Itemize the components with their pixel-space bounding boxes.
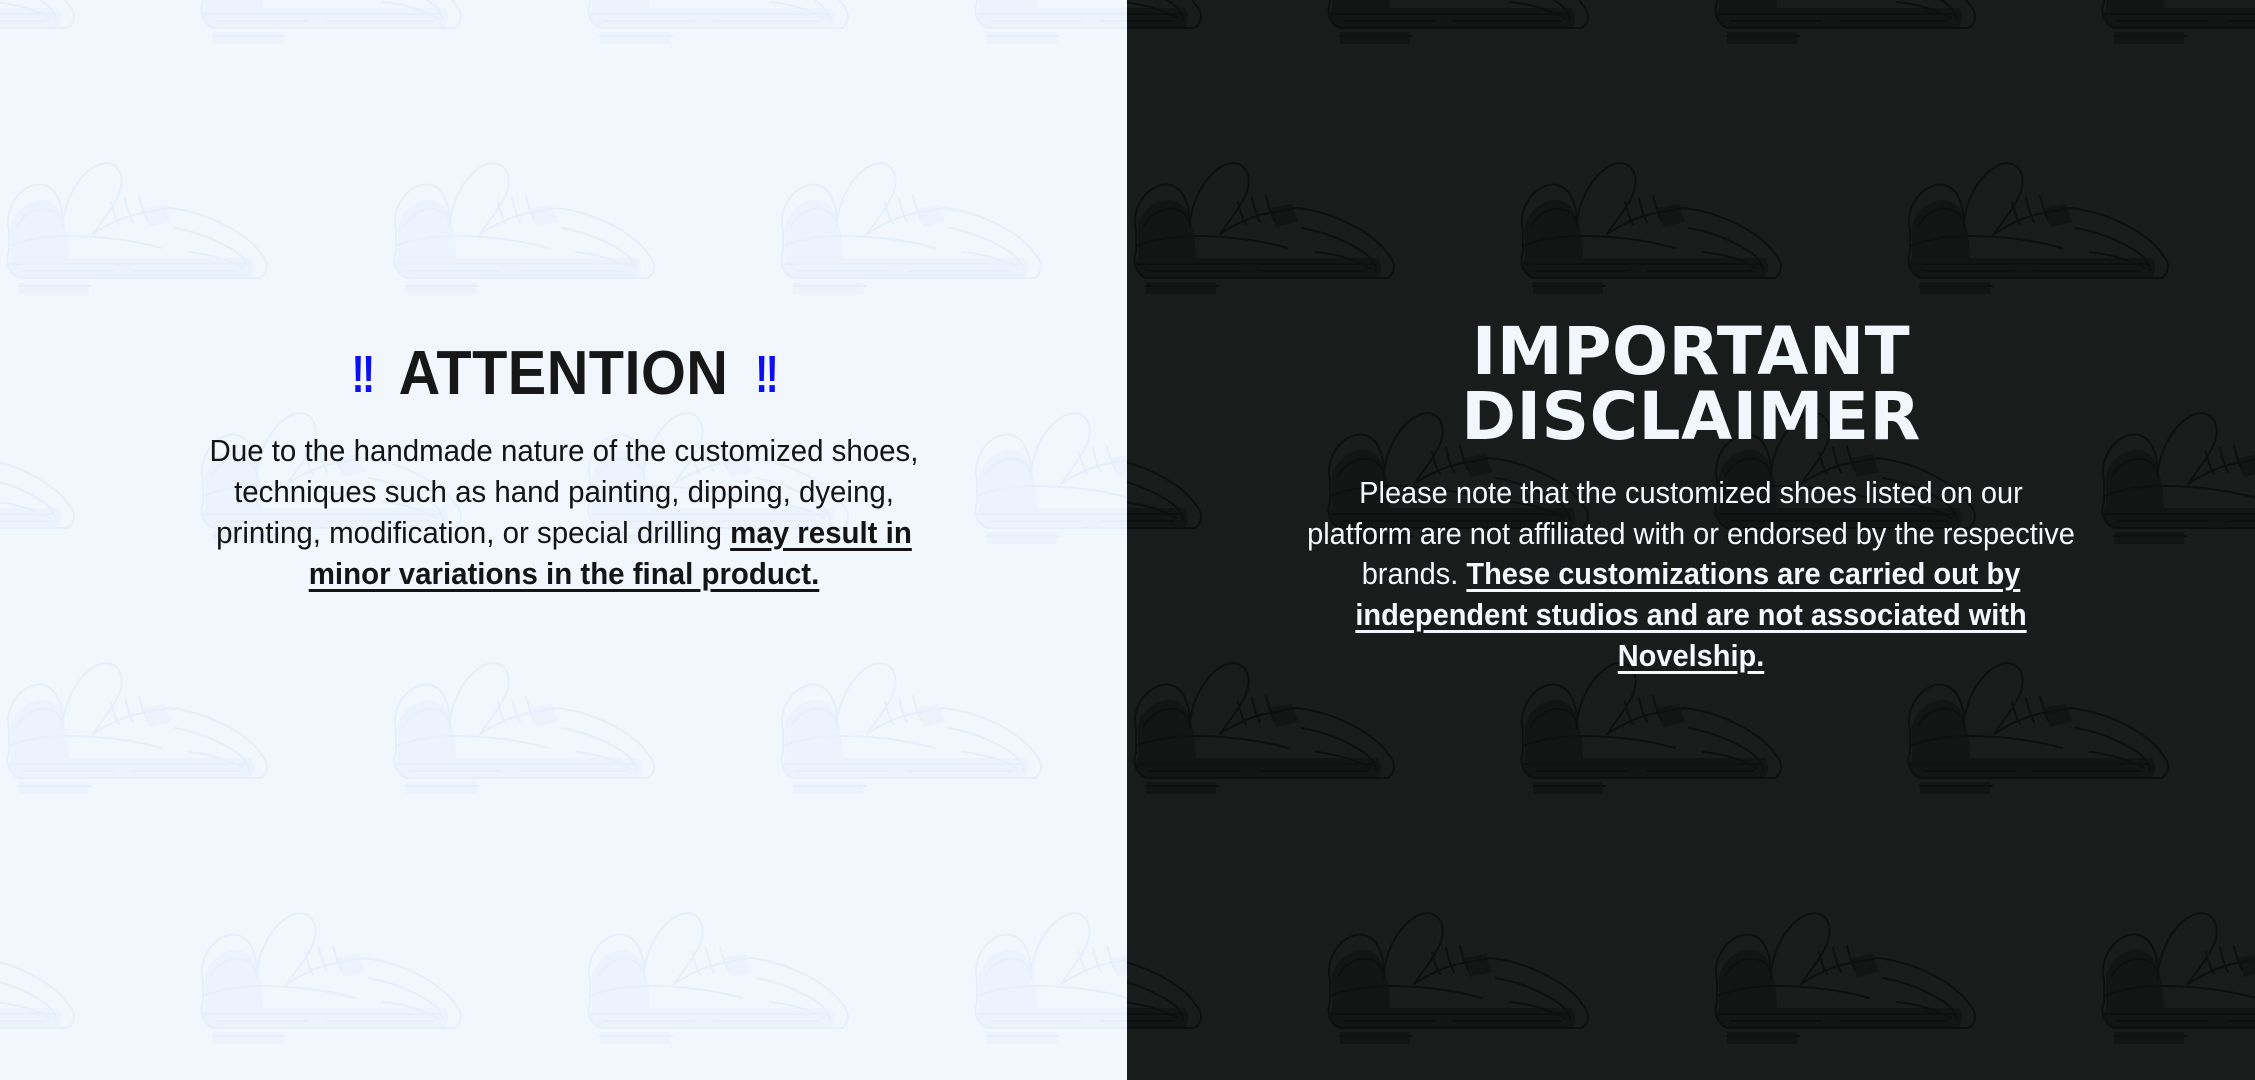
- sneaker-icon: [1314, 0, 1614, 65]
- attention-body: Due to the handmade nature of the custom…: [184, 431, 944, 595]
- sneaker-icon: [574, 880, 874, 1065]
- sneaker-icon: [1701, 0, 2001, 65]
- sneaker-icon: [1314, 880, 1614, 1065]
- sneaker-icon: [187, 0, 487, 65]
- sneaker-icon: [961, 880, 1127, 1065]
- sneaker-icon: [961, 0, 1127, 65]
- sneaker-icon: [0, 630, 293, 815]
- disclaimer-heading-line-1: IMPORTANT: [1127, 320, 2255, 385]
- double-exclamation-icon-left: ‼: [344, 349, 379, 401]
- sneaker-icon: [1507, 130, 1807, 315]
- double-exclamation-icon-right: ‼: [748, 349, 783, 401]
- sneaker-icon: [380, 630, 680, 815]
- sneaker-icon: [0, 0, 100, 65]
- sneaker-icon: [1894, 130, 2194, 315]
- sneaker-icon: [1127, 0, 1227, 65]
- sneaker-icon: [1127, 130, 1420, 315]
- disclaimer-content: IMPORTANT DISCLAIMER Please note that th…: [1127, 320, 2255, 676]
- disclaimer-heading: IMPORTANT DISCLAIMER: [1127, 320, 2255, 449]
- sneaker-icon: [380, 130, 680, 315]
- attention-heading-word: ATTENTION: [384, 343, 744, 405]
- disclaimer-body: Please note that the customized shoes li…: [1306, 473, 2076, 676]
- sneaker-icon: [2088, 880, 2255, 1065]
- sneaker-icon: [0, 130, 293, 315]
- disclaimer-heading-line-2: DISCLAIMER: [1127, 385, 2255, 450]
- sneaker-icon: [1127, 880, 1227, 1065]
- promo-banner: ‼ATTENTION‼ Due to the handmade nature o…: [0, 0, 2255, 1080]
- sneaker-icon: [1701, 880, 2001, 1065]
- attention-content: ‼ATTENTION‼ Due to the handmade nature o…: [0, 343, 1127, 595]
- sneaker-icon: [187, 880, 487, 1065]
- sneaker-icon: [0, 880, 100, 1065]
- attention-heading: ‼ATTENTION‼: [39, 343, 1087, 405]
- sneaker-icon: [767, 130, 1067, 315]
- sneaker-icon: [767, 630, 1067, 815]
- sneaker-icon: [2088, 0, 2255, 65]
- sneaker-icon: [574, 0, 874, 65]
- attention-panel: ‼ATTENTION‼ Due to the handmade nature o…: [0, 0, 1127, 1080]
- disclaimer-panel: IMPORTANT DISCLAIMER Please note that th…: [1127, 0, 2255, 1080]
